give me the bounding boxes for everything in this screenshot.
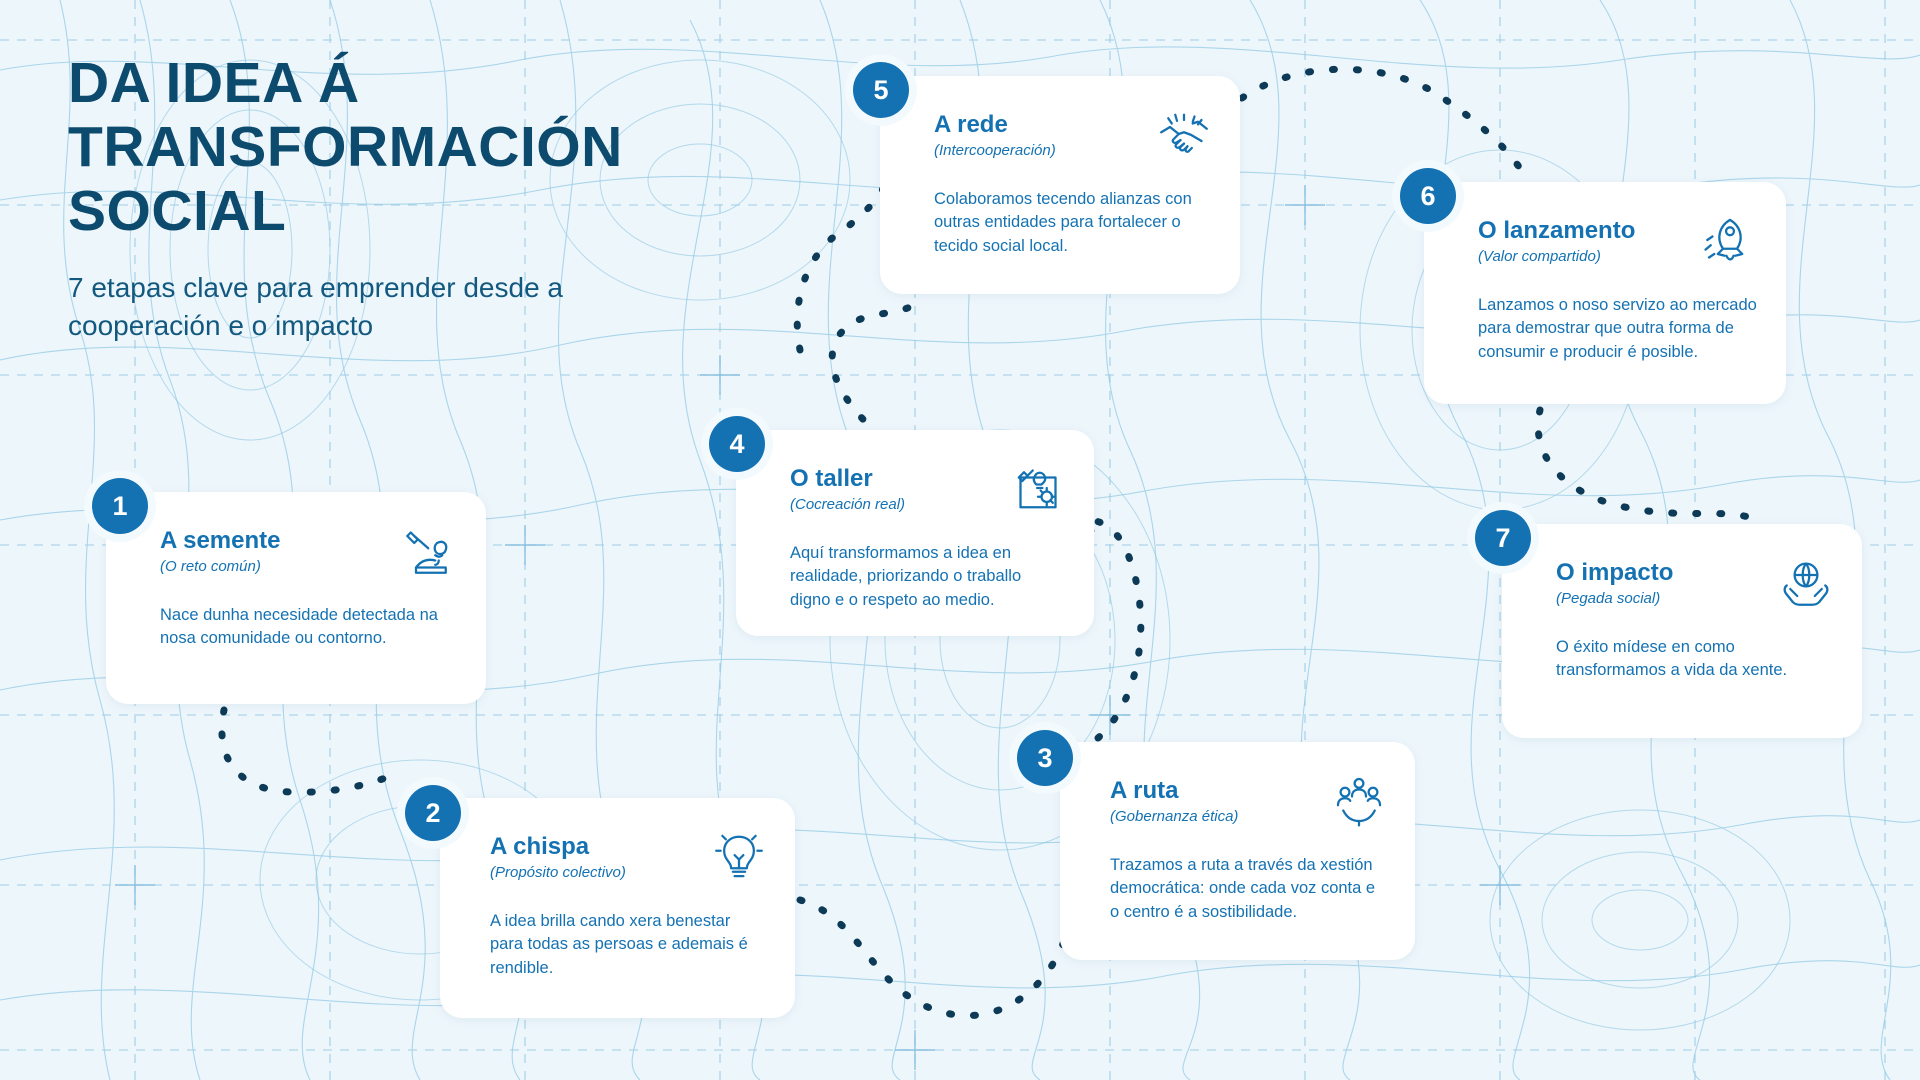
step-body-3: Trazamos a ruta a través da xestión demo…: [1110, 854, 1387, 924]
step-title-5: A rede: [934, 112, 1056, 138]
step-body-5: Colaboramos tecendo alianzas con outras …: [934, 188, 1212, 258]
connector-4-5: [832, 300, 920, 436]
step-subtitle-3: (Gobernanza ética): [1110, 808, 1238, 826]
step-badge-4: 4: [709, 416, 765, 472]
title-block: DA IDEA Á TRANSFORMACIÓN SOCIAL 7 etapas…: [68, 52, 708, 344]
step-card-3[interactable]: A ruta (Gobernanza ética): [1060, 742, 1415, 960]
hands-globe-icon: [1778, 554, 1834, 610]
seed-planting-icon: [402, 522, 458, 578]
step-badge-1: 1: [92, 478, 148, 534]
step-card-7[interactable]: O impacto (Pegada social) O éxito mídese…: [1502, 524, 1862, 738]
step-body-7: O éxito mídese en como transformamos a v…: [1556, 636, 1834, 683]
connector-6-7: [1538, 410, 1752, 518]
step-badge-7: 7: [1475, 510, 1531, 566]
step-card-5[interactable]: A rede (Intercooperación): [880, 76, 1240, 294]
step-subtitle-6: (Valor compartido): [1478, 248, 1635, 266]
step-card-1[interactable]: A semente (O reto común) Nace dunha nece…: [106, 492, 486, 704]
step-badge-6: 6: [1400, 168, 1456, 224]
infographic-canvas: DA IDEA Á TRANSFORMACIÓN SOCIAL 7 etapas…: [0, 0, 1920, 1080]
step-card-6[interactable]: O lanzamento (Valor compartido) Lanzamos…: [1424, 182, 1786, 404]
step-body-6: Lanzamos o noso servizo ao mercado para …: [1478, 294, 1758, 364]
step-subtitle-5: (Intercooperación): [934, 142, 1056, 160]
step-badge-2: 2: [405, 785, 461, 841]
step-card-2[interactable]: A chispa (Propósito colectivo) A idea br…: [440, 798, 795, 1018]
step-subtitle-7: (Pegada social): [1556, 590, 1673, 608]
step-badge-5: 5: [853, 62, 909, 118]
lightbulb-icon: [711, 828, 767, 884]
connector-2-3: [800, 900, 1070, 1016]
step-card-4[interactable]: O taller (Cocreación real) Aquí trans: [736, 430, 1094, 636]
rocket-icon: [1702, 212, 1758, 268]
step-title-7: O impacto: [1556, 560, 1673, 586]
step-subtitle-1: (O reto común): [160, 558, 281, 576]
step-title-2: A chispa: [490, 834, 626, 860]
step-title-1: A semente: [160, 528, 281, 554]
step-body-1: Nace dunha necesidade detectada na nosa …: [160, 604, 458, 651]
people-group-icon: [1331, 772, 1387, 828]
step-subtitle-2: (Propósito colectivo): [490, 864, 626, 882]
page-subtitle: 7 etapas clave para emprender desde a co…: [68, 269, 648, 343]
step-title-3: A ruta: [1110, 778, 1238, 804]
connector-1-2: [222, 710, 400, 792]
step-body-2: A idea brilla cando xera benestar para t…: [490, 910, 767, 980]
step-body-4: Aquí transformamos a idea en realidade, …: [790, 542, 1066, 612]
step-badge-3: 3: [1017, 730, 1073, 786]
page-title: DA IDEA Á TRANSFORMACIÓN SOCIAL: [68, 52, 708, 243]
connector-top-6: [1242, 69, 1528, 180]
workshop-gear-icon: [1010, 460, 1066, 516]
handshake-icon: [1156, 106, 1212, 162]
step-title-4: O taller: [790, 466, 905, 492]
step-title-6: O lanzamento: [1478, 218, 1635, 244]
step-subtitle-4: (Cocreación real): [790, 496, 905, 514]
